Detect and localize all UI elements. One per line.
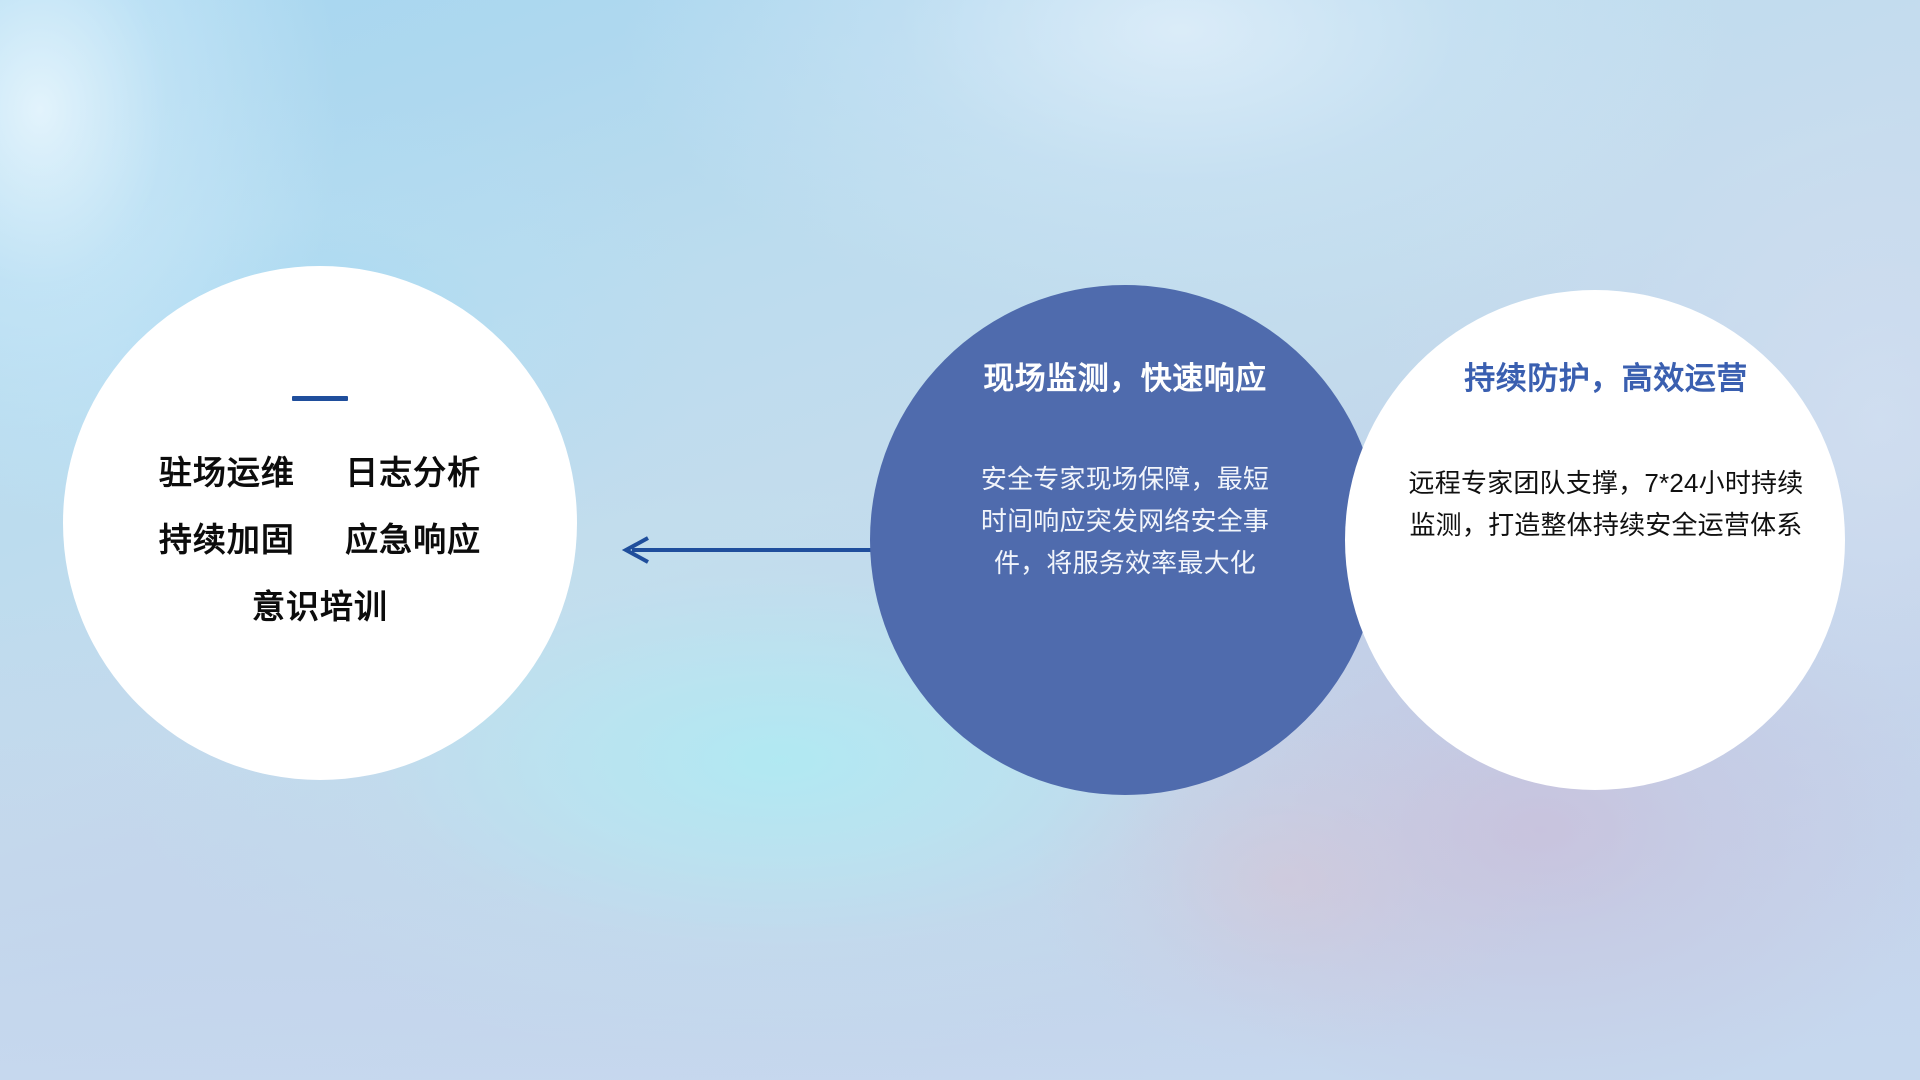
capability-item-yingjixiangying: 应急响应 <box>345 521 481 558</box>
right-circle-content: 持续防护，高效运营 远程专家团队支撑，7*24小时持续监测，打造整体持续安全运营… <box>1345 290 1845 790</box>
middle-circle-content: 现场监测，快速响应 安全专家现场保障，最短时间响应突发网络安全事件，将服务效率最… <box>870 285 1380 795</box>
capability-circle-left[interactable]: 驻场运维 日志分析 持续加固 应急响应 意识培训 <box>63 266 577 780</box>
capability-row-2: 持续加固 应急响应 <box>159 523 481 556</box>
capability-circle-middle[interactable]: 现场监测，快速响应 安全专家现场保障，最短时间响应突发网络安全事件，将服务效率最… <box>870 285 1380 795</box>
capability-circle-right[interactable]: 持续防护，高效运营 远程专家团队支撑，7*24小时持续监测，打造整体持续安全运营… <box>1345 290 1845 790</box>
capability-item-yishipeixun: 意识培训 <box>252 588 388 625</box>
slide-canvas: 驻场运维 日志分析 持续加固 应急响应 意识培训 现场监测，快速响应 <box>0 0 1920 1080</box>
divider-dash-icon <box>292 396 348 401</box>
left-arrow-icon <box>608 528 878 572</box>
middle-circle-body: 安全专家现场保障，最短时间响应突发网络安全事件，将服务效率最大化 <box>970 458 1280 584</box>
capability-item-chixujiagu: 持续加固 <box>159 521 295 558</box>
capability-row-1: 驻场运维 日志分析 <box>159 456 481 489</box>
capability-row-3: 意识培训 <box>252 590 388 623</box>
capability-list: 驻场运维 日志分析 持续加固 应急响应 意识培训 <box>159 456 481 623</box>
capability-item-rizhifenxi: 日志分析 <box>345 454 481 491</box>
capability-item-zhuchangyunwei: 驻场运维 <box>159 454 295 491</box>
right-circle-title: 持续防护，高效运营 <box>1464 363 1748 394</box>
middle-circle-title: 现场监测，快速响应 <box>983 363 1267 394</box>
right-circle-body: 远程专家团队支撑，7*24小时持续监测，打造整体持续安全运营体系 <box>1396 462 1816 546</box>
left-circle-content: 驻场运维 日志分析 持续加固 应急响应 意识培训 <box>63 266 577 780</box>
